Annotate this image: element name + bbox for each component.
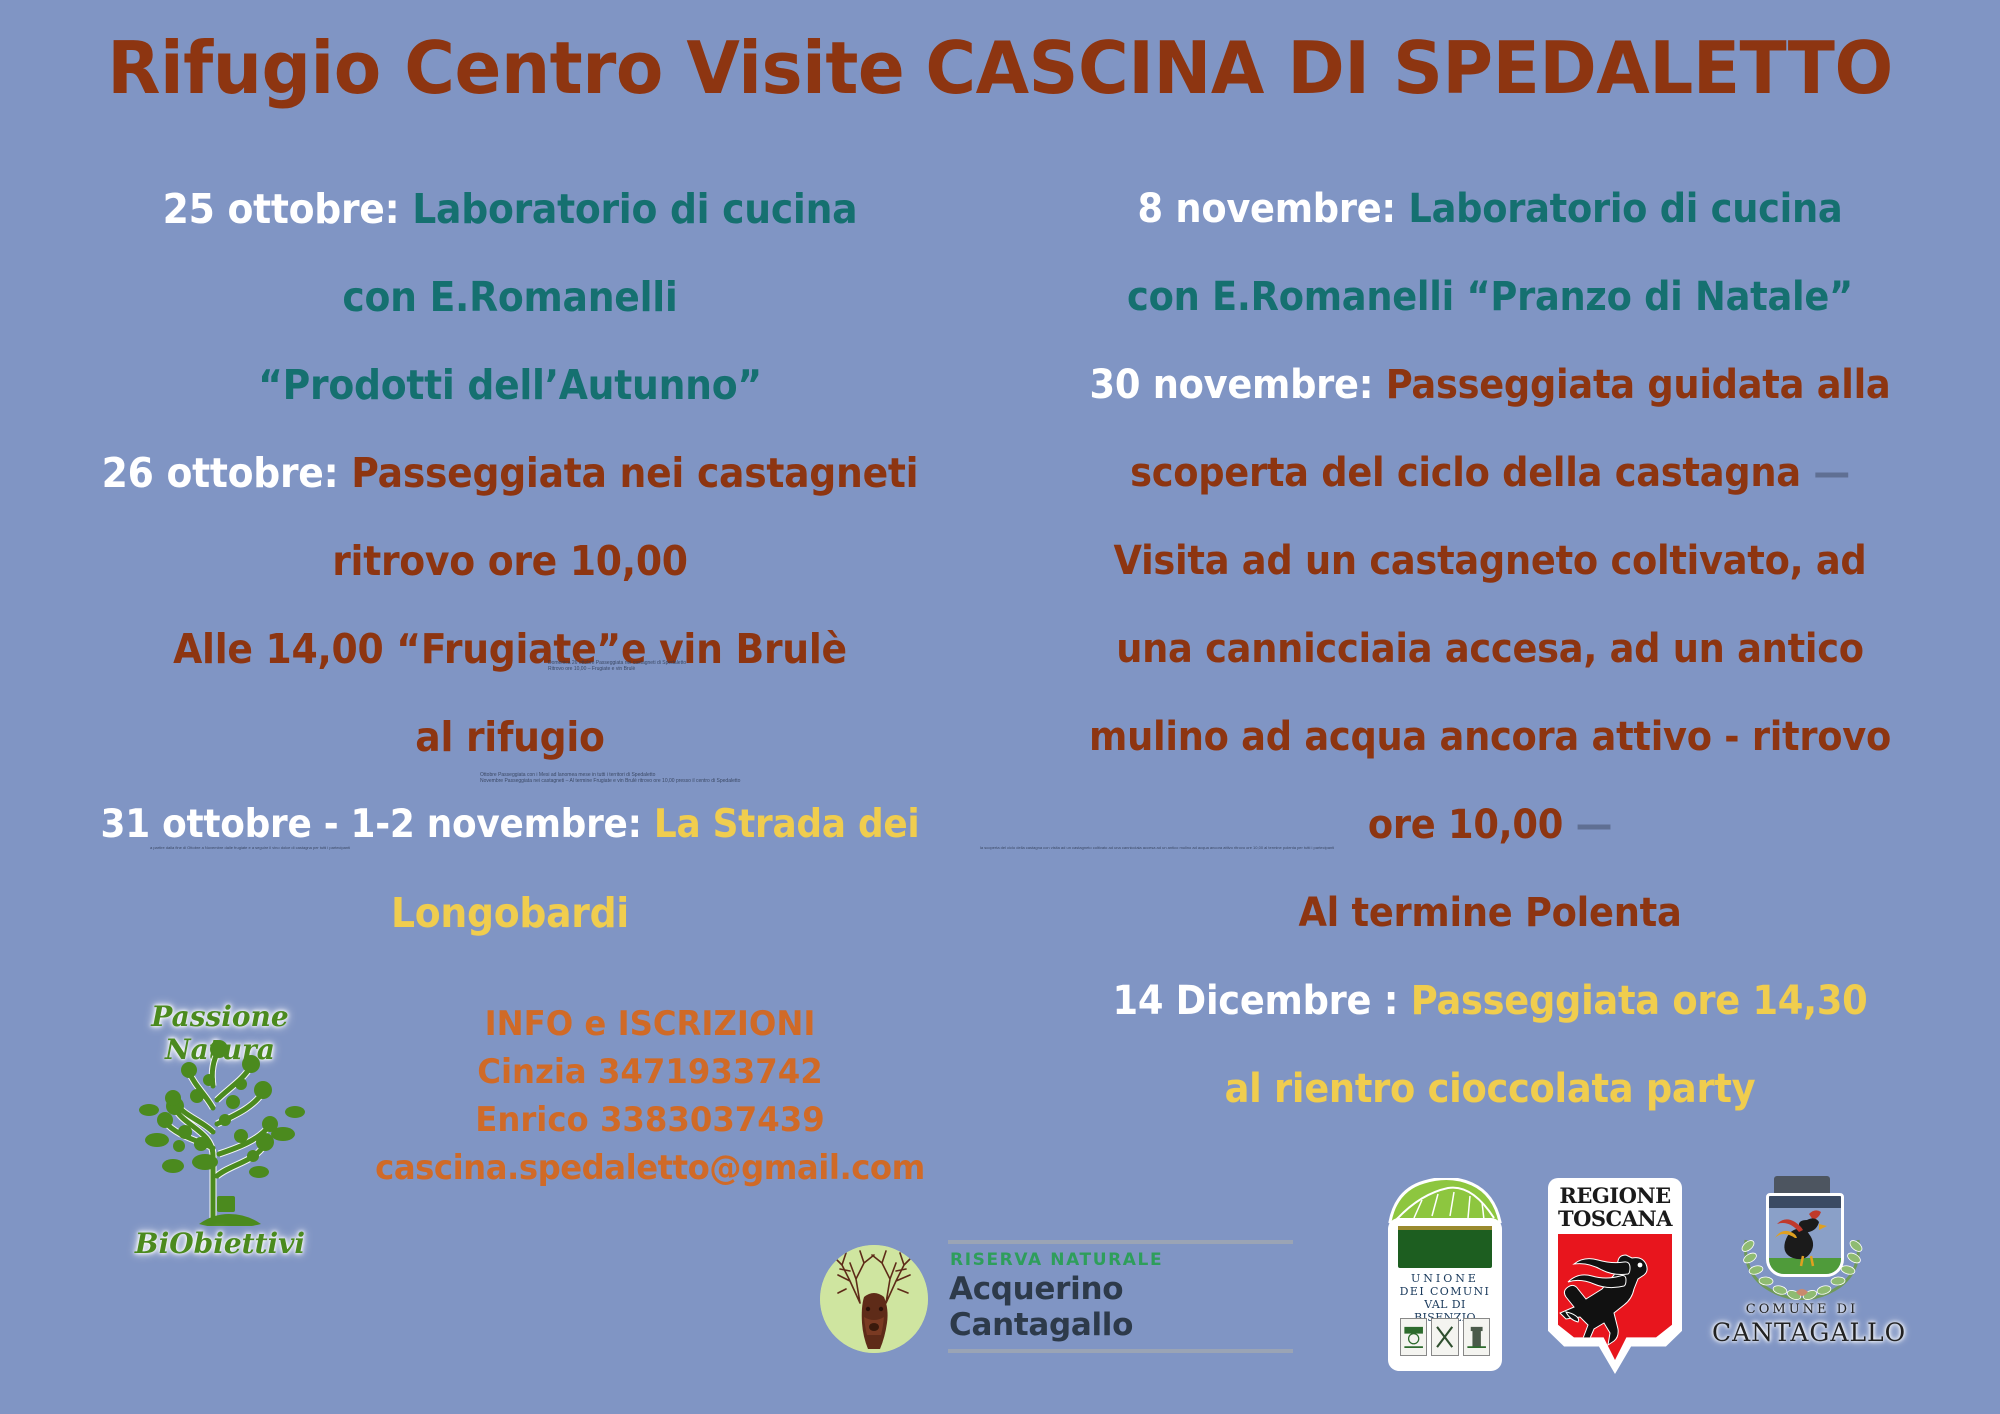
deer-tree-icon [820, 1245, 928, 1353]
event-line-r10: 14 Dicembre : Passeggiata ore 14,30 [1030, 957, 1950, 1045]
logo-comune-line2: CANTAGALLO [1712, 1318, 1892, 1347]
logo-regione-toscana: REGIONE TOSCANA [1548, 1178, 1682, 1374]
info-contact-enrico[interactable]: Enrico 3383037439 [346, 1096, 954, 1144]
crown-icon [1774, 1176, 1830, 1194]
title-part2: CASCINA DI SPEDALETTO [925, 26, 1892, 110]
logo-passione-natura-bottom-text: BiObiettivi [95, 1227, 345, 1260]
event-line-l8: 31 ottobre - 1-2 novembre: La Strada dei [59, 781, 961, 869]
event-text-r4: scoperta del ciclo della castagna [1130, 450, 1801, 496]
logo-passione-natura: Passione Natura [95, 1000, 345, 1260]
event-text-r8: ore 10,00 [1368, 802, 1563, 848]
event-line-l9: Longobardi [59, 869, 961, 957]
event-line-l1: 25 ottobre: Laboratorio di cucina [59, 165, 961, 253]
event-text-l1: Laboratorio di cucina [412, 185, 857, 233]
event-line-r11: al rientro cioccolata party [1030, 1045, 1950, 1133]
riserva-rule-bottom [948, 1349, 1293, 1353]
left-column: 25 ottobre: Laboratorio di cucina con E.… [20, 165, 1000, 957]
event-line-l7: al rifugio [59, 693, 961, 781]
event-text-l4: Passeggiata nei castagneti [351, 449, 918, 497]
event-text-l2: con E.Romanelli [342, 273, 677, 321]
event-text-l7: al rifugio [415, 713, 604, 761]
logo-riserva-main: Acquerino Cantagallo [949, 1271, 1298, 1343]
event-date-r10: 14 Dicembre : [1112, 978, 1398, 1024]
event-text-l8: La Strada dei [654, 802, 920, 847]
logo-unione-comuni: UNIONE DEI COMUNI VAL DI BISENZIO [1386, 1178, 1504, 1373]
micro-artifact-1-line2: Ritrovo ore 10,00 – Frugiate e vin Brulè [548, 666, 686, 672]
event-text-r9: Al termine Polenta [1298, 890, 1681, 936]
logo-riserva-text: RISERVA NATURALE Acquerino Cantagallo [948, 1240, 1298, 1353]
logo-regione-text: REGIONE TOSCANA [1548, 1184, 1682, 1230]
micro-artifact-4: la scoperta del ciclo della castagna con… [980, 845, 1600, 850]
title-part1: Rifugio Centro Visite [107, 26, 904, 110]
event-line-l3: “Prodotti dell’Autunno” [59, 341, 961, 429]
unione-card: UNIONE DEI COMUNI VAL DI BISENZIO [1392, 1222, 1498, 1367]
event-line-r8: ore 10,00 — [1030, 781, 1950, 869]
logo-comune-cantagallo: COMUNE DI CANTAGALLO [1712, 1176, 1892, 1376]
page-title: Rifugio Centro VisiteCASCINA DI SPEDALET… [40, 26, 1960, 110]
shield-icon-1 [1400, 1318, 1427, 1356]
logo-comune-line1: COMUNE DI [1712, 1302, 1892, 1317]
laurel-wreath-icon [1736, 1234, 1868, 1300]
event-text-r2: con E.Romanelli “Pranzo di Natale” [1127, 274, 1853, 320]
info-heading: INFO e ISCRIZIONI [346, 1000, 954, 1048]
logo-regione-line1: REGIONE [1548, 1184, 1682, 1207]
event-date-l4: 26 ottobre: [102, 449, 339, 497]
event-text-r7: mulino ad acqua ancora attivo - ritrovo [1089, 714, 1891, 760]
event-line-r1: 8 novembre: Laboratorio di cucina [1030, 165, 1950, 253]
event-line-r4: scoperta del ciclo della castagna — [1030, 429, 1950, 517]
logo-unione-line2: DEI COMUNI [1396, 1285, 1494, 1298]
logo-regione-line2: TOSCANA [1548, 1207, 1682, 1230]
unione-green-band [1398, 1228, 1492, 1268]
micro-artifact-2: Ottobre Passeggiata con i Mesi ad lanome… [480, 772, 740, 784]
micro-artifact-3: a partire dalla fine di Ottobre a Novemb… [150, 845, 710, 850]
em-dash-r8: — [1576, 802, 1613, 848]
event-text-r11: al rientro cioccolata party [1225, 1066, 1756, 1112]
event-line-l2: con E.Romanelli [59, 253, 961, 341]
event-text-r1: Laboratorio di cucina [1408, 186, 1842, 232]
event-date-r1: 8 novembre: [1138, 186, 1396, 232]
tree-icon [113, 1036, 327, 1226]
event-text-r3: Passeggiata guidata alla [1386, 362, 1891, 408]
event-text-l6: Alle 14,00 “Frugiate”e vin Brulè [173, 625, 847, 673]
logo-unione-line1: UNIONE [1396, 1272, 1494, 1285]
event-line-r6: una cannicciaia accesa, ad un antico [1030, 605, 1950, 693]
em-dash-r4: — [1813, 450, 1850, 496]
event-text-l3: “Prodotti dell’Autunno” [258, 361, 762, 409]
event-line-r5: Visita ad un castagneto coltivato, ad [1030, 517, 1950, 605]
event-text-l5: ritrovo ore 10,00 [332, 537, 688, 585]
event-text-l9: Longobardi [391, 889, 629, 937]
logo-riserva-naturale: RISERVA NATURALE Acquerino Cantagallo [820, 1240, 1300, 1360]
riserva-rule-top [948, 1240, 1293, 1244]
event-line-r3: 30 novembre: Passeggiata guidata alla [1030, 341, 1950, 429]
event-text-r10: Passeggiata ore 14,30 [1411, 978, 1868, 1024]
poster-root: Rifugio Centro VisiteCASCINA DI SPEDALET… [0, 0, 2000, 1414]
event-line-r7: mulino ad acqua ancora attivo - ritrovo [1030, 693, 1950, 781]
right-column: 8 novembre: Laboratorio di cucina con E.… [990, 165, 1990, 1133]
event-date-l8: 31 ottobre - 1-2 novembre: [101, 802, 642, 847]
event-line-r9: Al termine Polenta [1030, 869, 1950, 957]
event-text-r6: una cannicciaia accesa, ad un antico [1116, 626, 1864, 672]
shield-icon-2 [1431, 1318, 1458, 1356]
event-date-r3: 30 novembre: [1089, 362, 1373, 408]
event-date-l1: 25 ottobre: [163, 185, 400, 233]
info-contact-cinzia[interactable]: Cinzia 3471933742 [346, 1048, 954, 1096]
event-line-l5: ritrovo ore 10,00 [59, 517, 961, 605]
info-block: INFO e ISCRIZIONI Cinzia 3471933742 Enri… [346, 1000, 954, 1192]
info-email[interactable]: cascina.spedaletto@gmail.com [346, 1144, 954, 1192]
event-text-r5: Visita ad un castagneto coltivato, ad [1114, 538, 1867, 584]
micro-artifact-2-line2: Novembre Passeggiata nei castagneti – Al… [480, 778, 740, 784]
event-line-r2: con E.Romanelli “Pranzo di Natale” [1030, 253, 1950, 341]
event-line-l6: Alle 14,00 “Frugiate”e vin Brulè [59, 605, 961, 693]
shield-icon-3 [1463, 1318, 1490, 1356]
logo-riserva-sub: RISERVA NATURALE [950, 1250, 1298, 1270]
unione-stripe-gold [1398, 1226, 1492, 1230]
micro-artifact-1: Domenica 26 ottobre Passeggiata nei cast… [548, 660, 686, 672]
event-line-l4: 26 ottobre: Passeggiata nei castagneti [59, 429, 961, 517]
unione-shields [1400, 1318, 1490, 1356]
